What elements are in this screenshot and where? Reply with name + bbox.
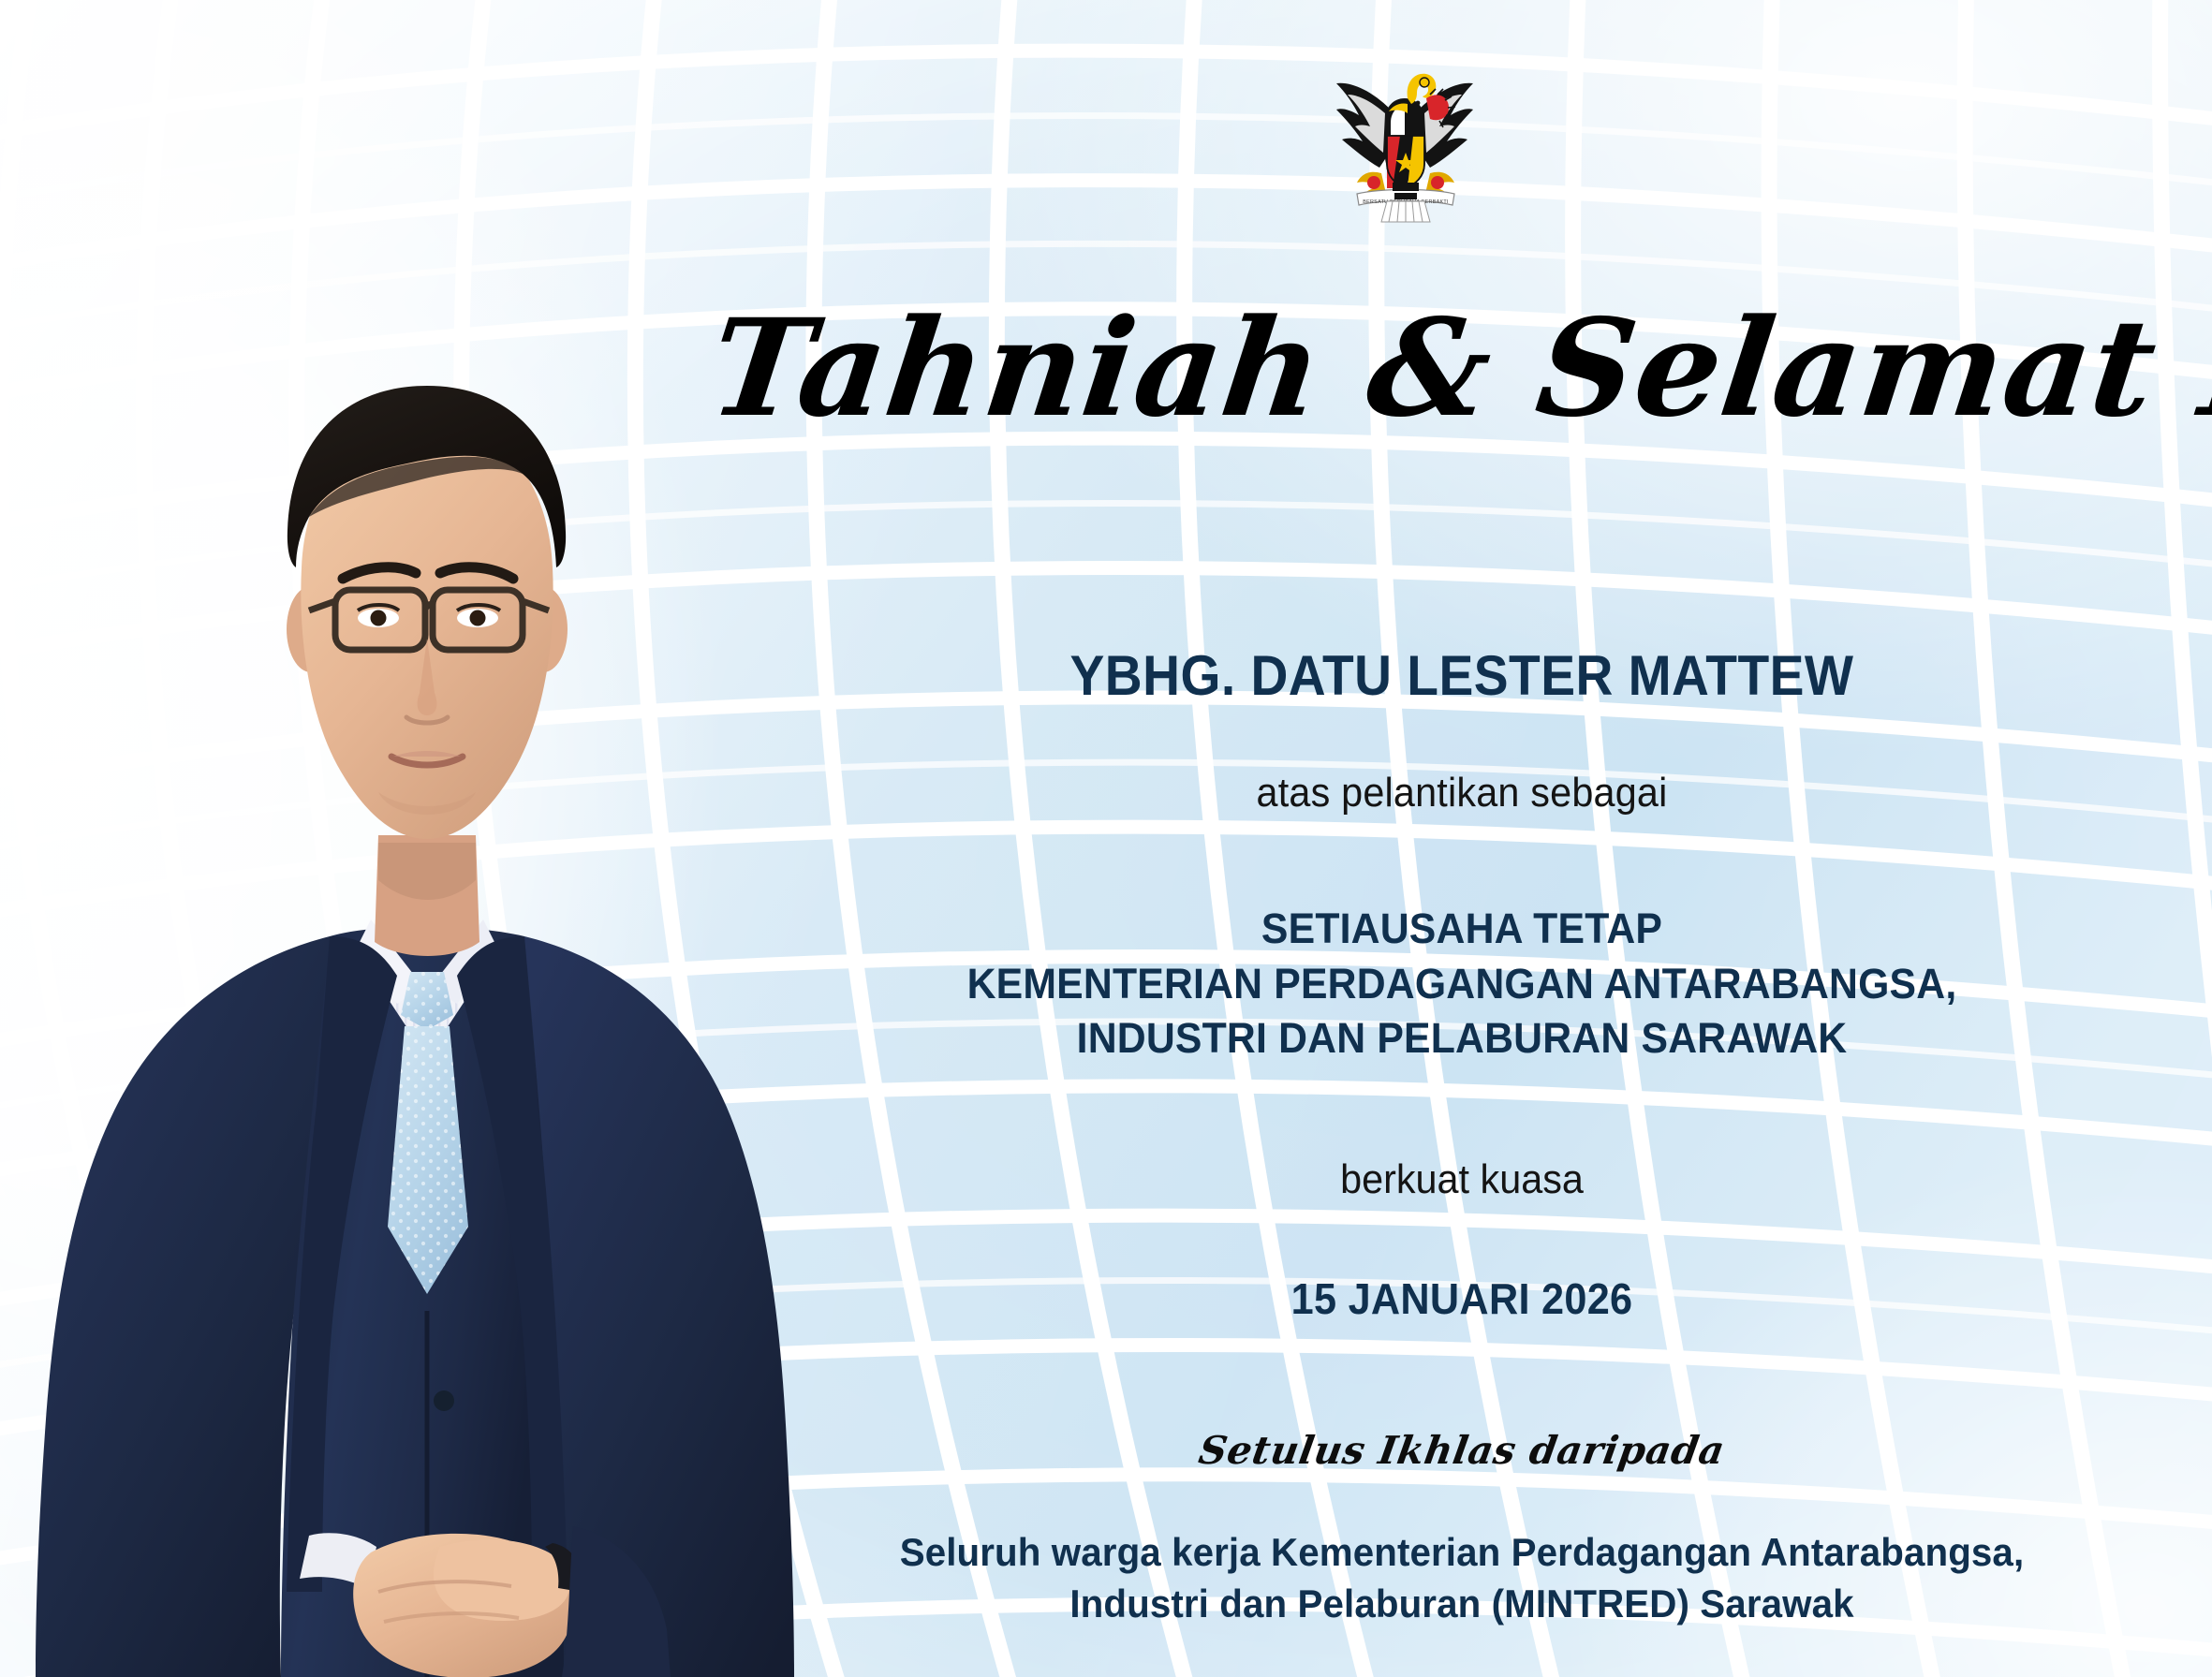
- appointment-lead-line: atas pelantikan sebagai: [757, 770, 2167, 816]
- portrait-head: [287, 386, 568, 839]
- regards-script-line: Setulus Ikhlas daripada: [708, 1428, 2212, 1473]
- greeting-script-title: Tahniah & Selamat Datang: [703, 302, 2212, 435]
- sender-block: Seluruh warga kerja Kementerian Perdagan…: [742, 1526, 2182, 1630]
- banner-text-content: Tahniah & Selamat Datang YBHG. DATU LEST…: [712, 0, 2212, 1677]
- effective-label: berkuat kuasa: [757, 1156, 2167, 1203]
- congratulations-banner: BERSATU BERUSAHA BERBAKTI Tahniah & Sela…: [0, 0, 2212, 1677]
- sender-line-1: Seluruh warga kerja Kementerian Perdagan…: [742, 1526, 2182, 1578]
- position-title-block: SETIAUSAHA TETAP KEMENTERIAN PERDAGANGAN…: [749, 902, 2175, 1067]
- position-line-3: INDUSTRI DAN PELABURAN SARAWAK: [749, 1011, 2175, 1067]
- clasped-hands: [353, 1534, 582, 1677]
- position-line-1: SETIAUSAHA TETAP: [749, 902, 2175, 957]
- portrait-body: [36, 919, 794, 1677]
- position-line-2: KEMENTERIAN PERDAGANGAN ANTARABANGSA,: [749, 957, 2175, 1012]
- effective-date: 15 JANUARI 2026: [757, 1273, 2167, 1324]
- sender-line-2: Industri dan Pelaburan (MINTRED) Sarawak: [742, 1578, 2182, 1629]
- honoree-name: YBHG. DATU LESTER MATTEW: [772, 646, 2152, 705]
